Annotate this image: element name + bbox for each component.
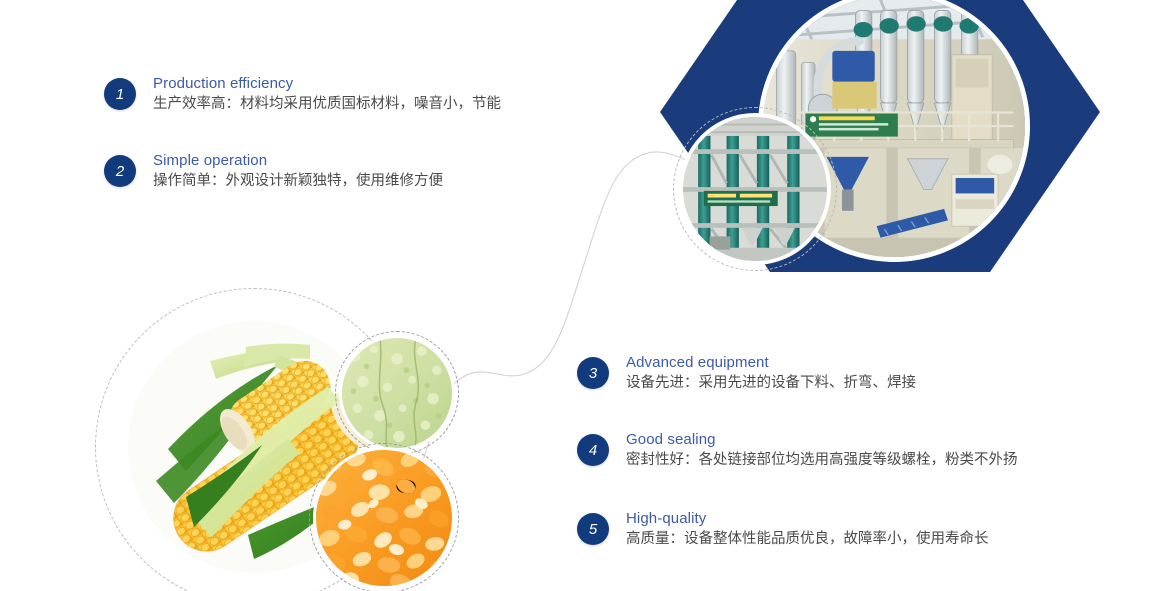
feature-badge-4: 4 <box>577 434 609 466</box>
feature-badge-3: 3 <box>577 357 609 389</box>
feature-heading-5: High-quality <box>626 509 989 528</box>
feature-text-2: Simple operation 操作简单：外观设计新颖独特，使用维修方便 <box>153 151 443 192</box>
feature-item-3: 3 Advanced equipment 设备先进：采用先进的设备下料、折弯、焊… <box>577 357 916 394</box>
feature-item-4: 4 Good sealing 密封性好：各处链接部位均选用高强度等级螺栓，粉类不… <box>577 434 1018 471</box>
feature-item-2: 2 Simple operation 操作简单：外观设计新颖独特，使用维修方便 <box>104 155 443 192</box>
feature-text-1: Production efficiency 生产效率高：材料均采用优质国标材料，… <box>153 74 501 115</box>
feature-text-5: High-quality 高质量：设备整体性能品质优良，故障率小，使用寿命长 <box>626 509 989 550</box>
feature-heading-4: Good sealing <box>626 430 1018 449</box>
feature-showcase: 1 Production efficiency 生产效率高：材料均采用优质国标材… <box>0 0 1154 591</box>
corn-flour-photo <box>339 335 455 451</box>
feature-badge-5: 5 <box>577 513 609 545</box>
feature-heading-1: Production efficiency <box>153 74 501 93</box>
feature-heading-2: Simple operation <box>153 151 443 170</box>
feature-body-2: 操作简单：外观设计新颖独特，使用维修方便 <box>153 171 443 192</box>
feature-heading-3: Advanced equipment <box>626 353 916 372</box>
corn-grits-photo <box>313 447 455 589</box>
feature-body-5: 高质量：设备整体性能品质优良，故障率小，使用寿命长 <box>626 529 989 550</box>
feature-text-3: Advanced equipment 设备先进：采用先进的设备下料、折弯、焊接 <box>626 353 916 394</box>
feature-item-5: 5 High-quality 高质量：设备整体性能品质优良，故障率小，使用寿命长 <box>577 513 989 550</box>
feature-body-3: 设备先进：采用先进的设备下料、折弯、焊接 <box>626 373 916 394</box>
green-milling-machinery-photo <box>679 113 831 265</box>
feature-badge-2: 2 <box>104 155 136 187</box>
feature-text-4: Good sealing 密封性好：各处链接部位均选用高强度等级螺栓，粉类不外扬 <box>626 430 1018 471</box>
feature-badge-1: 1 <box>104 78 136 110</box>
feature-body-4: 密封性好：各处链接部位均选用高强度等级螺栓，粉类不外扬 <box>626 450 1018 471</box>
feature-item-1: 1 Production efficiency 生产效率高：材料均采用优质国标材… <box>104 78 501 115</box>
feature-body-1: 生产效率高：材料均采用优质国标材料，噪音小，节能 <box>153 94 501 115</box>
